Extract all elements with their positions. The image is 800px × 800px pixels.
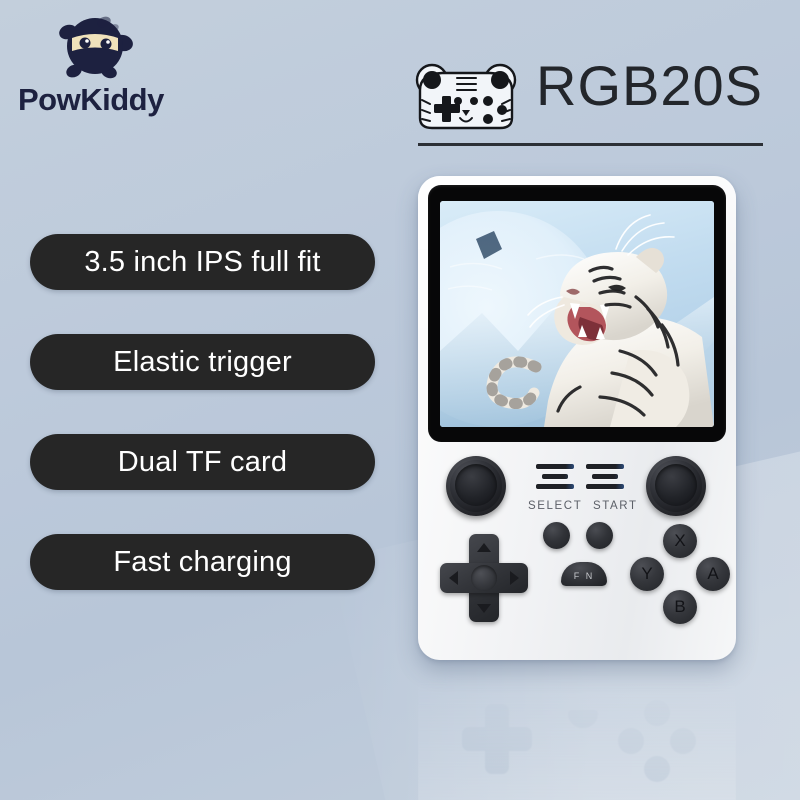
feature-pill-charging: Fast charging [30, 534, 375, 590]
header: RGB20S [408, 55, 778, 150]
dpad-up-icon[interactable] [477, 543, 491, 552]
bar-segment [536, 484, 574, 489]
feature-pill-list: 3.5 inch IPS full fit Elastic trigger Du… [30, 234, 375, 590]
left-analog-stick[interactable] [446, 456, 506, 516]
indicator-bars [536, 464, 624, 498]
dpad-left-icon[interactable] [449, 571, 458, 585]
reflection-dpad-arm [485, 704, 509, 774]
right-analog-stick[interactable] [646, 456, 706, 516]
bar-segment [592, 474, 618, 479]
fn-button[interactable]: F N [561, 562, 607, 586]
select-label: SELECT [528, 500, 582, 512]
reflection-button [644, 700, 670, 726]
reflection-body [418, 662, 736, 800]
device-reflection [418, 662, 736, 800]
button-a[interactable]: A [696, 557, 730, 591]
button-b[interactable]: B [663, 590, 697, 624]
bar-segment [586, 484, 624, 489]
handheld-console: SELECT START F N X Y A B [418, 176, 736, 660]
tiger-artwork [440, 201, 714, 427]
reflection-button [644, 756, 670, 782]
page-title: RGB20S [536, 53, 763, 118]
feature-pill-display: 3.5 inch IPS full fit [30, 234, 375, 290]
start-bar-group [586, 464, 624, 494]
feature-pill-trigger: Elastic trigger [30, 334, 375, 390]
ninja-mascot-icon [52, 10, 138, 84]
select-button[interactable] [543, 522, 570, 549]
dpad-down-icon[interactable] [477, 604, 491, 613]
product-banner: PowKiddy [0, 0, 800, 800]
dpad-center-hub [471, 565, 497, 591]
screen-bezel [428, 185, 726, 442]
reflection-button [618, 728, 644, 754]
reflection-button [670, 728, 696, 754]
bar-segment [536, 464, 574, 469]
bar-segment [542, 474, 568, 479]
dpad-right-icon[interactable] [510, 571, 519, 585]
button-x[interactable]: X [663, 524, 697, 558]
brand-logo: PowKiddy [14, 8, 214, 128]
feature-pill-storage: Dual TF card [30, 434, 375, 490]
title-underline [418, 143, 763, 146]
reflection-dpad [462, 704, 532, 774]
dpad[interactable] [440, 534, 528, 622]
device-screen [440, 201, 714, 427]
tiger-gamepad-icon [412, 60, 520, 138]
brand-name: PowKiddy [18, 82, 164, 118]
reflection-fn-button [568, 710, 598, 728]
control-panel: SELECT START F N X Y A B [418, 442, 736, 660]
button-y[interactable]: Y [630, 557, 664, 591]
start-button[interactable] [586, 522, 613, 549]
select-bar-group [536, 464, 574, 494]
bar-segment [586, 464, 624, 469]
face-button-cluster: X Y A B [630, 524, 730, 628]
start-label: START [593, 500, 638, 512]
reflection-dpad-arm [462, 727, 532, 751]
fn-label: F N [574, 571, 595, 581]
